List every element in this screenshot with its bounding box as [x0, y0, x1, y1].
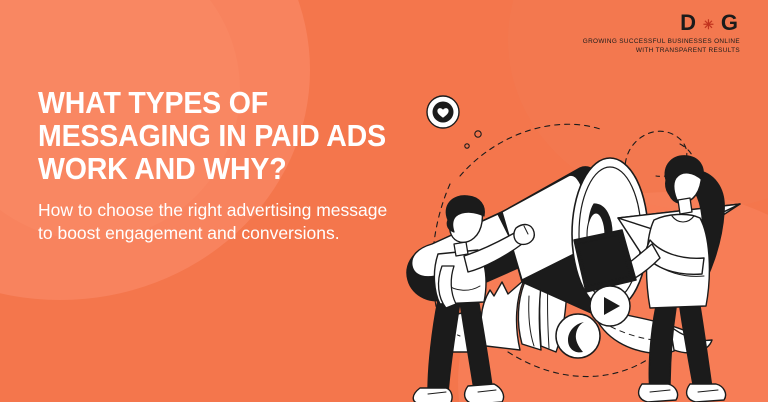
logo-tagline-line2: WITH TRANSPARENT RESULTS	[583, 47, 740, 54]
brand-logo[interactable]: D ✳ G GROWING SUCCESSFUL BUSINESSES ONLI…	[583, 12, 740, 54]
play-icon-bubble	[590, 286, 630, 326]
headline-line-2: MESSAGING IN PAID ADS	[38, 119, 388, 152]
illustration-svg	[398, 84, 768, 402]
logo-wordmark: D ✳ G	[583, 12, 740, 34]
logo-tagline-line1: GROWING SUCCESSFUL BUSINESSES ONLINE	[583, 38, 740, 45]
logo-letter-d: D	[680, 12, 698, 34]
hero-copy: WHAT TYPES OF MESSAGING IN PAID ADS WORK…	[38, 86, 418, 244]
page-title: WHAT TYPES OF MESSAGING IN PAID ADS WORK…	[38, 86, 388, 185]
logo-letter-g: G	[721, 12, 740, 34]
headline-line-1: WHAT TYPES OF	[38, 86, 388, 119]
hero-banner: D ✳ G GROWING SUCCESSFUL BUSINESSES ONLI…	[0, 0, 768, 402]
phone-icon-bubble	[556, 314, 600, 358]
heart-icon-bubble	[427, 96, 459, 128]
asterisk-icon: ✳	[703, 18, 716, 31]
hero-subtitle: How to choose the right advertising mess…	[38, 199, 398, 243]
headline-line-3: WORK AND WHY?	[38, 152, 388, 185]
megaphone-marketing-illustration	[398, 84, 768, 402]
